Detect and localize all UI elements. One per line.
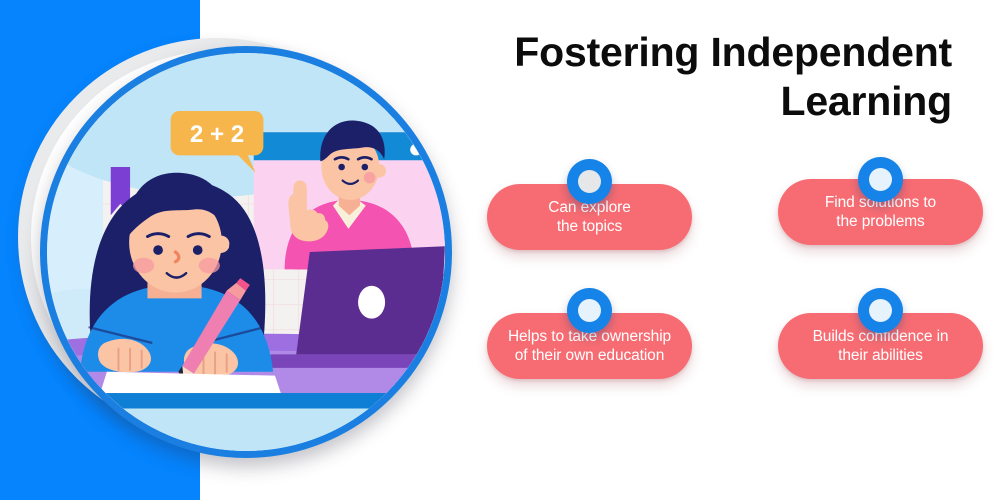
ring-hole-icon [578, 170, 601, 193]
ring-hole-icon [869, 299, 892, 322]
infographic-canvas: za [0, 0, 1000, 500]
title-line-2: Learning [488, 77, 952, 126]
benefit-node-icon-3 [567, 288, 612, 333]
page-title: Fostering Independent Learning [488, 28, 952, 126]
benefit-node-icon-2 [858, 157, 903, 202]
illustration-frame: za [40, 46, 452, 458]
illustration-artwork: za [47, 53, 445, 451]
benefit-node-icon-4 [858, 288, 903, 333]
title-line-1: Fostering Independent [488, 28, 952, 77]
benefit-node-icon-1 [567, 159, 612, 204]
illustration-circle: za [18, 32, 458, 472]
svg-text:2 + 2: 2 + 2 [190, 121, 244, 148]
ring-hole-icon [869, 168, 892, 191]
ring-hole-icon [578, 299, 601, 322]
